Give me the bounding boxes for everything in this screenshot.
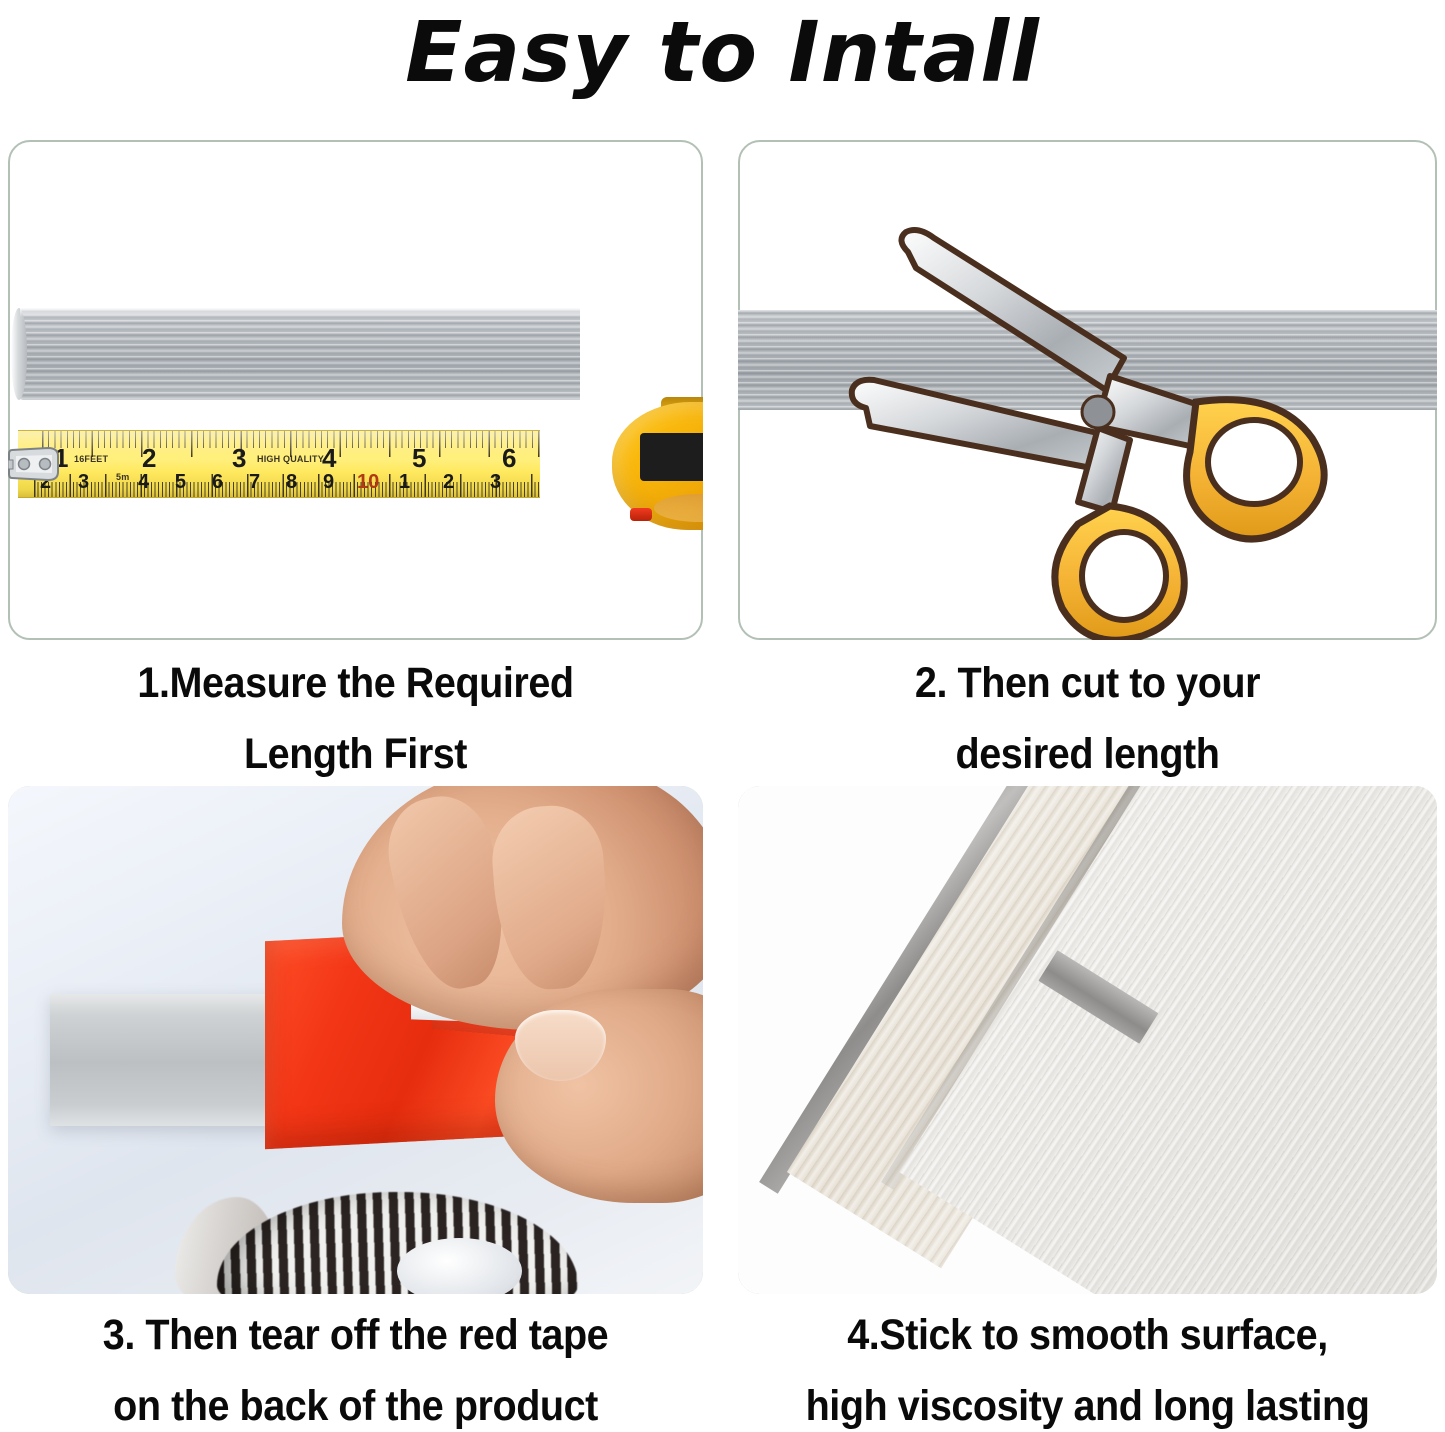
blade-inch-3: 3 (232, 445, 246, 471)
tape-measure-housing (612, 402, 703, 530)
blade-label-high-quality: HIGH QUALITY (257, 453, 324, 465)
grey-trim-strip (20, 308, 580, 400)
scissors-icon (738, 140, 1437, 640)
blade-cm-6: 6 (212, 469, 223, 495)
caption-line: desired length (766, 719, 1409, 790)
step-1-illustration: 1 2 3 4 5 6 16FEET HIGH QUALITY 2 3 4 (8, 140, 703, 640)
blade-cm-3: 3 (78, 469, 89, 495)
caption-line: 1.Measure the Required (36, 648, 675, 719)
blade-cm-10: 10 (357, 469, 379, 495)
blade-cm-13: 3 (490, 469, 501, 495)
caption-line: Length First (36, 719, 675, 790)
blade-cm-row: 2 3 4 5 6 7 8 9 10 1 2 3 (18, 469, 540, 495)
caption-line: 2. Then cut to your (766, 648, 1409, 719)
step-1-caption: 1.Measure the Required Length First (36, 648, 675, 790)
step-3-illustration (8, 786, 703, 1294)
step-2-illustration (738, 140, 1437, 640)
blade-inch-2: 2 (142, 445, 156, 471)
step-3-caption: 3. Then tear off the red tape on the bac… (36, 1300, 675, 1432)
step-1-cell: 1 2 3 4 5 6 16FEET HIGH QUALITY 2 3 4 (8, 140, 703, 640)
caption-line: on the back of the product (36, 1371, 675, 1432)
blade-cm-7: 7 (249, 469, 260, 495)
blade-cm-11: 1 (399, 469, 410, 495)
installed-trim-photo (738, 786, 1437, 1294)
peel-liner-photo (8, 786, 703, 1294)
blade-inch-6: 6 (502, 445, 516, 471)
step-2-cell (738, 140, 1437, 640)
grey-trim-strip (50, 994, 293, 1126)
caption-line: high viscosity and long lasting (766, 1371, 1409, 1432)
blade-inch-5: 5 (412, 445, 426, 471)
blade-cm-9: 9 (323, 469, 334, 495)
step-2-caption: 2. Then cut to your desired length (766, 648, 1409, 790)
tape-measure-blade: 1 2 3 4 5 6 16FEET HIGH QUALITY 2 3 4 (18, 430, 540, 498)
blade-cm-8: 8 (286, 469, 297, 495)
step-4-cell (738, 786, 1437, 1294)
step-4-caption: 4.Stick to smooth surface, high viscosit… (766, 1300, 1409, 1432)
blade-cm-5: 5 (175, 469, 186, 495)
blade-cm-12: 2 (443, 469, 454, 495)
tape-measure-lock-lever (640, 433, 703, 482)
coiled-trim-roll (217, 1192, 578, 1294)
step-4-illustration (738, 786, 1437, 1294)
caption-line: 3. Then tear off the red tape (36, 1300, 675, 1371)
step-3-cell (8, 786, 703, 1294)
blade-label-5m: 5m (116, 471, 129, 483)
steps-grid: 1 2 3 4 5 6 16FEET HIGH QUALITY 2 3 4 (8, 140, 1437, 1432)
tape-hook-icon (8, 436, 66, 492)
infographic-page: Easy to Intall 1 2 3 (0, 0, 1445, 1432)
blade-label-16feet: 16FEET (74, 453, 108, 465)
tape-measure-red-button (630, 508, 652, 521)
blade-cm-4: 4 (138, 469, 149, 495)
blade-inch-4: 4 (322, 445, 336, 471)
page-title: Easy to Intall (0, 2, 1445, 102)
caption-line: 4.Stick to smooth surface, (766, 1300, 1409, 1371)
